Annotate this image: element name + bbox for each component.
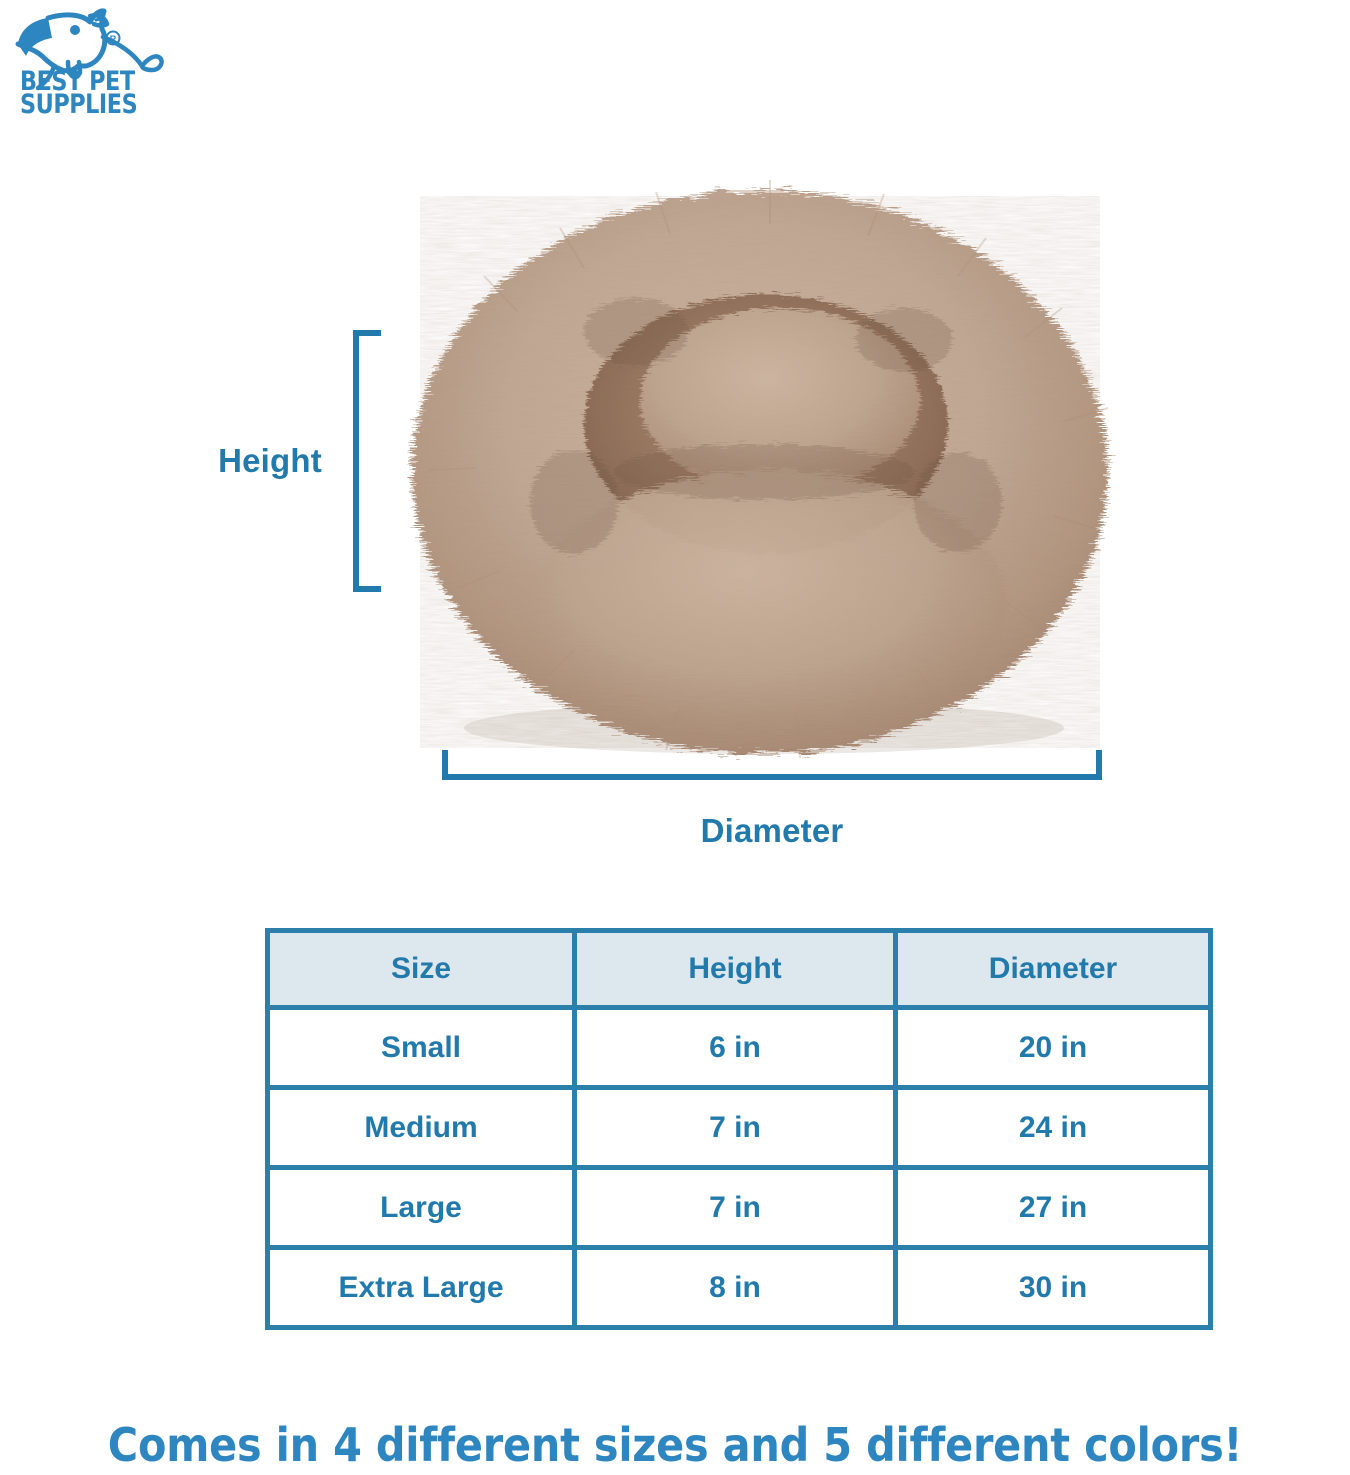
height-bracket-bottom-arm [353, 586, 381, 592]
cell-size: Extra Large [268, 1248, 575, 1328]
brand-name-line2: SUPPLIES [20, 93, 158, 116]
cell-height: 6 in [575, 1008, 896, 1088]
column-header-height: Height [575, 931, 896, 1008]
cell-size: Small [268, 1008, 575, 1088]
table-row: Medium 7 in 24 in [268, 1088, 1211, 1168]
diameter-bracket-right-arm [1096, 750, 1102, 780]
diameter-bracket-spine [442, 774, 1102, 780]
footer-tagline: Comes in 4 different sizes and 5 differe… [0, 1418, 1350, 1472]
cell-height: 7 in [575, 1088, 896, 1168]
size-chart-header: Size Height Diameter [268, 931, 1211, 1008]
pet-bed-product-image [398, 172, 1122, 768]
height-measurement-bracket [353, 330, 381, 592]
cell-diameter: 20 in [896, 1008, 1211, 1088]
height-bracket-spine [353, 330, 359, 592]
diameter-bracket-left-arm [442, 750, 448, 780]
brand-wordmark: BEST PET SUPPLIES [20, 70, 158, 116]
column-header-diameter: Diameter [896, 931, 1211, 1008]
cell-diameter: 24 in [896, 1088, 1211, 1168]
size-chart-table: Size Height Diameter Small 6 in 20 in Me… [265, 928, 1213, 1330]
diameter-measurement-bracket [442, 750, 1102, 780]
table-header-row: Size Height Diameter [268, 931, 1211, 1008]
cell-height: 8 in [575, 1248, 896, 1328]
cell-diameter: 27 in [896, 1168, 1211, 1248]
cell-size: Large [268, 1168, 575, 1248]
cell-size: Medium [268, 1088, 575, 1168]
brand-logo: R BEST PET SUPPLIES [8, 4, 178, 134]
cell-height: 7 in [575, 1168, 896, 1248]
cell-diameter: 30 in [896, 1248, 1211, 1328]
table-row: Small 6 in 20 in [268, 1008, 1211, 1088]
table-row: Extra Large 8 in 30 in [268, 1248, 1211, 1328]
column-header-size: Size [268, 931, 575, 1008]
height-bracket-top-arm [353, 330, 381, 336]
height-dimension-label: Height [200, 442, 340, 480]
table-row: Large 7 in 27 in [268, 1168, 1211, 1248]
svg-text:R: R [110, 34, 117, 44]
size-chart-body: Small 6 in 20 in Medium 7 in 24 in Large… [268, 1008, 1211, 1328]
diameter-dimension-label: Diameter [442, 812, 1102, 850]
